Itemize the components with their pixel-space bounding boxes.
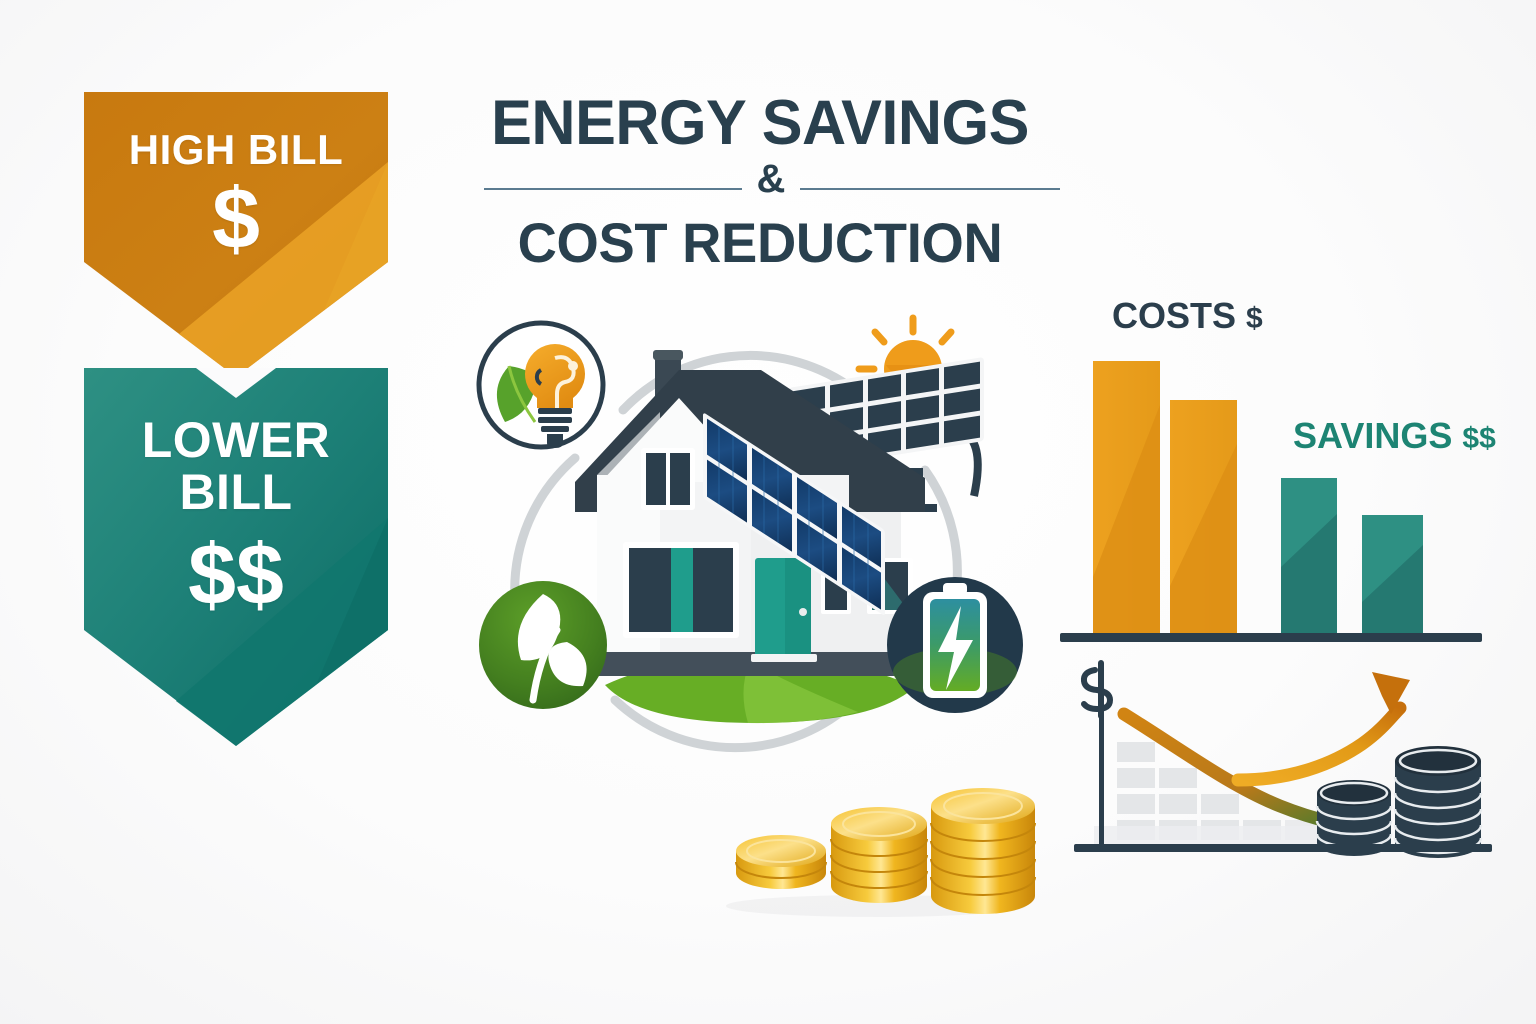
infographic-canvas: ENERGY SAVINGS & COST REDUCTION HIGH BIL… bbox=[0, 0, 1536, 1024]
attic-window bbox=[641, 448, 695, 510]
front-door bbox=[751, 558, 817, 662]
lower-bill-arrow: LOWER BILL $$ bbox=[84, 368, 388, 746]
costs-legend-label: COSTS $ bbox=[1112, 295, 1263, 337]
chart-grid bbox=[1117, 742, 1323, 840]
x-axis bbox=[1074, 844, 1492, 852]
eco-bulb-icon bbox=[479, 323, 603, 448]
battery-icon bbox=[887, 577, 1023, 713]
page-title: ENERGY SAVINGS & COST REDUCTION bbox=[470, 92, 1050, 271]
cost-savings-trend-chart: $ bbox=[1062, 658, 1506, 878]
y-axis: $ bbox=[1084, 663, 1110, 844]
costs-money: $ bbox=[1246, 302, 1263, 335]
bar-costs-2 bbox=[1170, 400, 1237, 633]
title-subtitle: COST REDUCTION bbox=[479, 215, 1042, 271]
leaf-icon bbox=[479, 581, 607, 709]
savings-growth-curve bbox=[1238, 708, 1400, 780]
front-window bbox=[623, 542, 739, 638]
divider-right bbox=[800, 188, 1060, 190]
eco-home-illustration bbox=[455, 300, 1055, 780]
ampersand: & bbox=[742, 157, 800, 202]
chart-baseline bbox=[1060, 633, 1482, 642]
savings-money: $$ bbox=[1462, 422, 1495, 455]
coin-stack-2 bbox=[831, 807, 927, 903]
gold-coin-stacks bbox=[726, 758, 1056, 918]
divider-left bbox=[484, 188, 742, 190]
dark-coin-stack-large bbox=[1395, 746, 1481, 858]
savings-legend-label: SAVINGS $$ bbox=[1293, 415, 1496, 457]
bar-savings-2 bbox=[1362, 515, 1423, 633]
bar-costs-1 bbox=[1093, 361, 1160, 633]
title-main: ENERGY SAVINGS bbox=[479, 92, 1042, 155]
coin-stack-3 bbox=[931, 788, 1035, 914]
coin-stack-1 bbox=[736, 835, 826, 889]
high-bill-arrow: HIGH BILL $ bbox=[84, 92, 388, 377]
bar-savings-1 bbox=[1281, 478, 1337, 633]
costs-text: COSTS bbox=[1112, 295, 1236, 336]
savings-text: SAVINGS bbox=[1293, 415, 1452, 456]
